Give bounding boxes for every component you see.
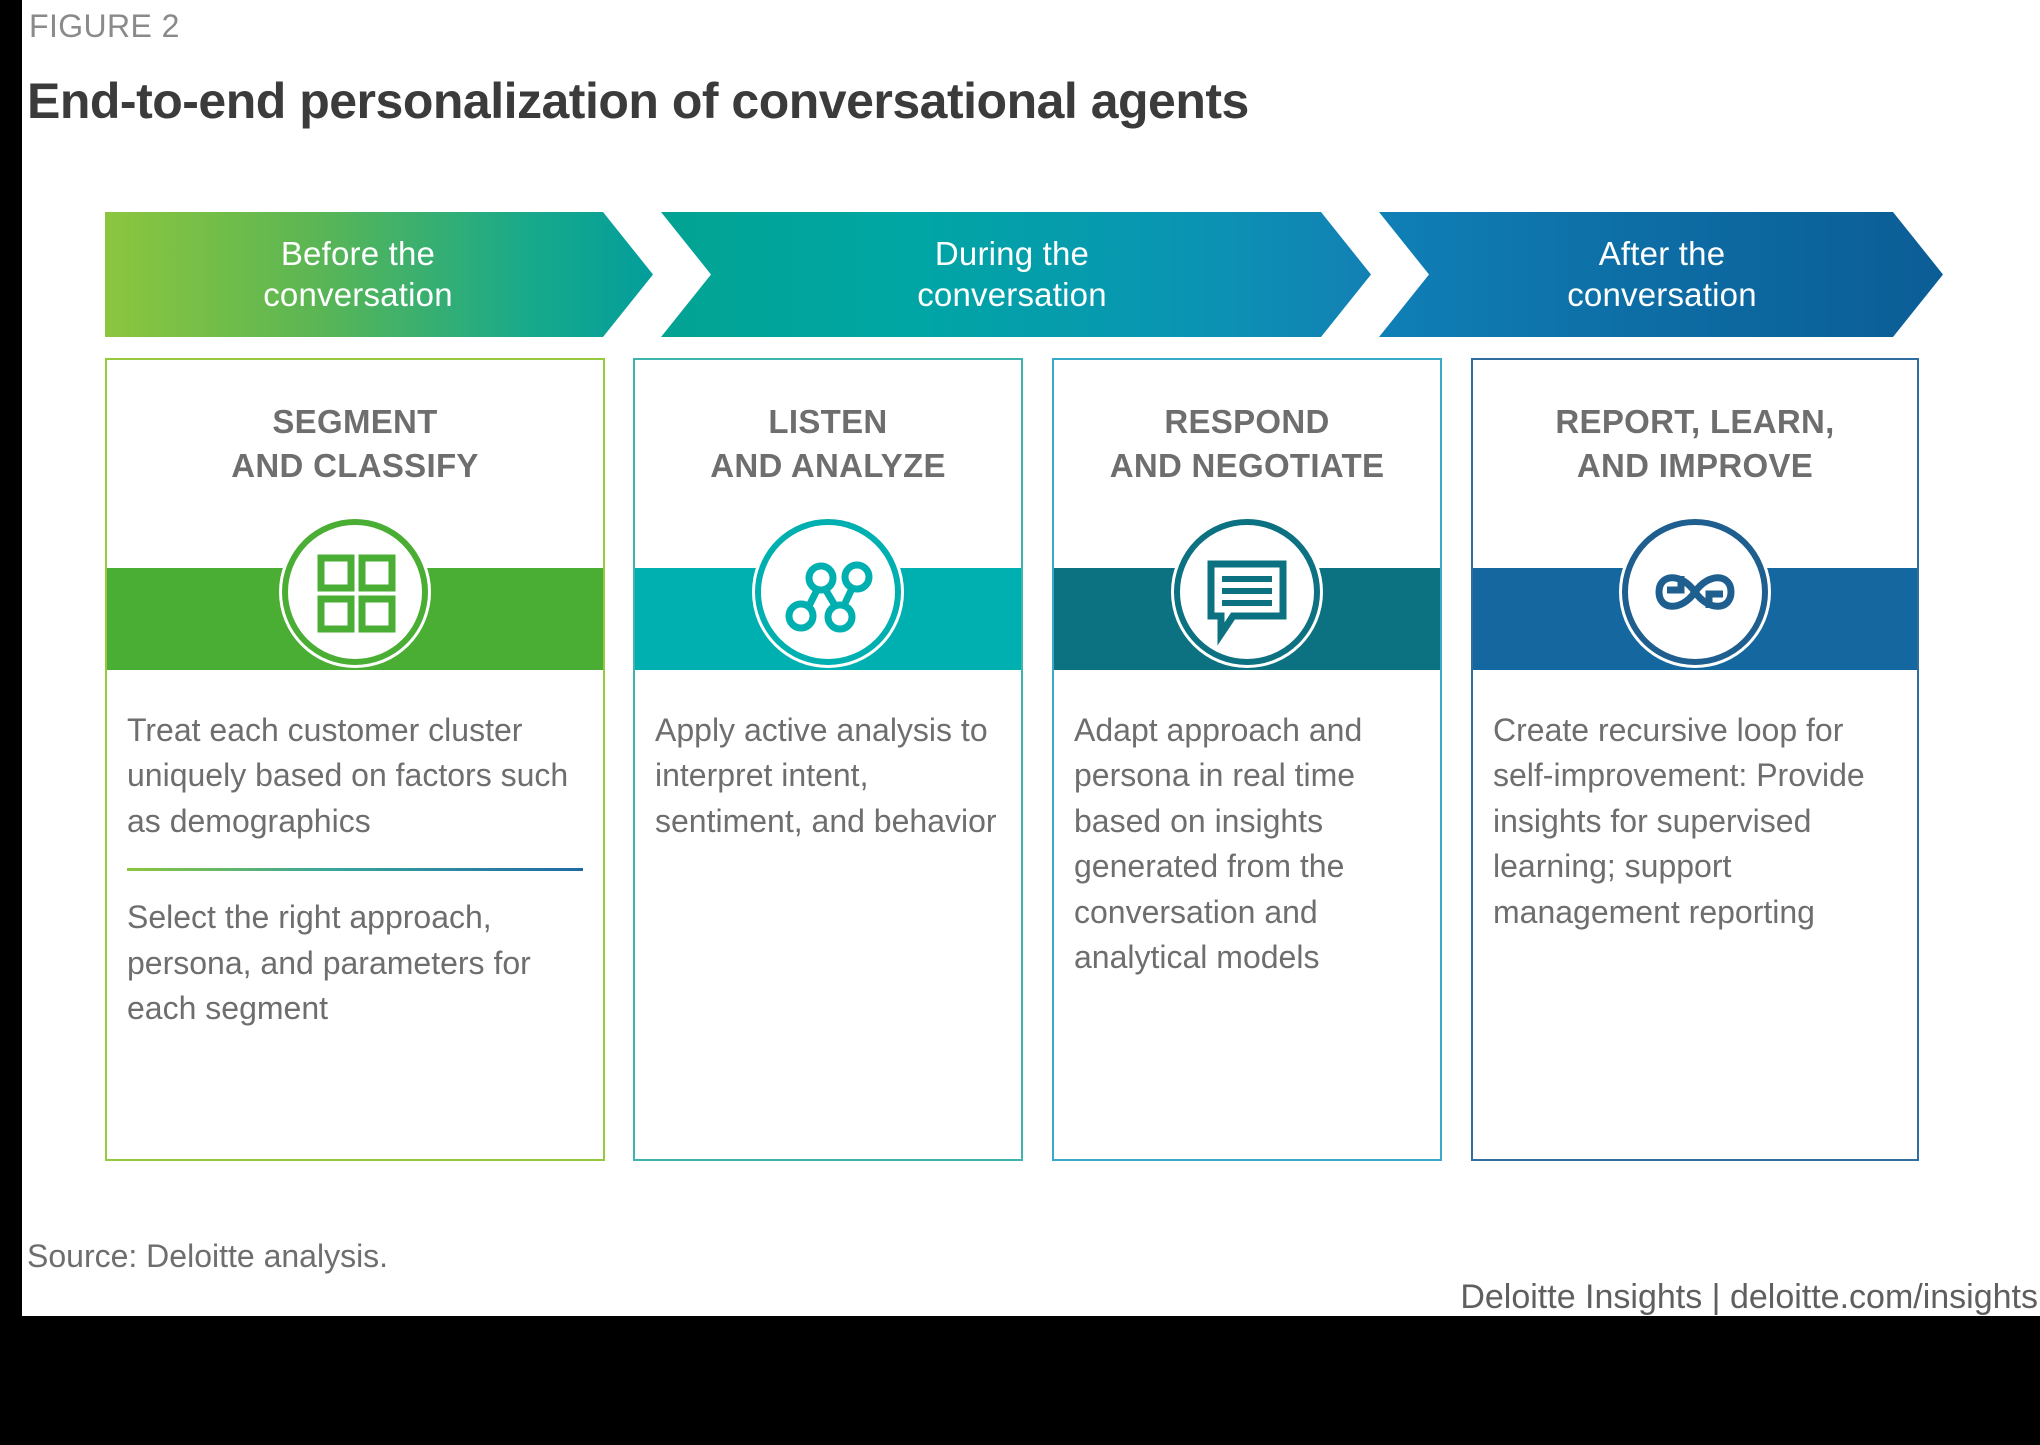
phase-banner: Before the conversation During the conve… bbox=[105, 212, 1943, 337]
stage-card-row: SEGMENT AND CLASSIFY Treat each customer… bbox=[105, 358, 1943, 1161]
stage-body-listen-and-analyze: Apply active analysis to interpret inten… bbox=[655, 708, 1005, 844]
stage-title-line2: AND NEGOTIATE bbox=[1110, 447, 1385, 484]
stage-body-report-learn-and-improve: Create recursive loop for self-improveme… bbox=[1493, 708, 1901, 935]
stage-card-segment-and-classify: SEGMENT AND CLASSIFY Treat each customer… bbox=[105, 358, 605, 1161]
phase-label-after: After the conversation bbox=[1567, 234, 1757, 315]
stage-title-line2: AND IMPROVE bbox=[1577, 447, 1813, 484]
stage-paragraph: Apply active analysis to interpret inten… bbox=[655, 708, 1005, 844]
stage-body-segment-and-classify: Treat each customer cluster uniquely bas… bbox=[127, 708, 587, 1032]
stage-paragraph: Treat each customer cluster uniquely bas… bbox=[127, 708, 587, 844]
stage-divider bbox=[127, 868, 583, 871]
grid-four-squares-icon bbox=[279, 516, 431, 668]
phase-label-during: During the conversation bbox=[917, 234, 1107, 315]
stage-paragraph: Create recursive loop for self-improveme… bbox=[1493, 708, 1901, 935]
phase-label-before: Before the conversation bbox=[263, 234, 453, 315]
stage-title-line2: AND ANALYZE bbox=[710, 447, 946, 484]
phase-chevron-before: Before the conversation bbox=[105, 212, 653, 337]
phase-label-before-line1: Before the bbox=[281, 235, 435, 272]
phase-chevron-during: During the conversation bbox=[661, 212, 1371, 337]
stage-card-respond-and-negotiate: RESPOND AND NEGOTIATE Adapt approach and… bbox=[1052, 358, 1442, 1161]
source-note: Source: Deloitte analysis. bbox=[27, 1238, 388, 1275]
stage-title-line2: AND CLASSIFY bbox=[231, 447, 478, 484]
stage-paragraph: Select the right approach, persona, and … bbox=[127, 895, 587, 1031]
phase-label-during-line2: conversation bbox=[917, 276, 1107, 313]
figure-root: FIGURE 2 End-to-end personalization of c… bbox=[0, 0, 2040, 1445]
stage-body-respond-and-negotiate: Adapt approach and persona in real time … bbox=[1074, 708, 1424, 981]
speech-bubble-icon bbox=[1171, 516, 1323, 668]
phase-label-after-line2: conversation bbox=[1567, 276, 1757, 313]
figure-canvas: FIGURE 2 End-to-end personalization of c… bbox=[22, 0, 2040, 1316]
stage-title-listen-and-analyze: LISTEN AND ANALYZE bbox=[635, 400, 1021, 487]
page-title: End-to-end personalization of conversati… bbox=[27, 72, 1249, 130]
phase-label-after-line1: After the bbox=[1599, 235, 1726, 272]
phase-label-before-line2: conversation bbox=[263, 276, 453, 313]
node-network-icon bbox=[752, 516, 904, 668]
stage-title-segment-and-classify: SEGMENT AND CLASSIFY bbox=[107, 400, 603, 487]
brand-footer: Deloitte Insights | deloitte.com/insight… bbox=[1460, 1278, 2038, 1317]
phase-label-during-line1: During the bbox=[935, 235, 1089, 272]
stage-title-line1: REPORT, LEARN, bbox=[1555, 403, 1834, 440]
phase-chevron-after: After the conversation bbox=[1379, 212, 1943, 337]
stage-card-listen-and-analyze: LISTEN AND ANALYZE bbox=[633, 358, 1023, 1161]
stage-title-respond-and-negotiate: RESPOND AND NEGOTIATE bbox=[1054, 400, 1440, 487]
stage-title-line1: LISTEN bbox=[768, 403, 887, 440]
stage-paragraph: Adapt approach and persona in real time … bbox=[1074, 708, 1424, 981]
recursive-loop-icon bbox=[1619, 516, 1771, 668]
stage-title-report-learn-and-improve: REPORT, LEARN, AND IMPROVE bbox=[1473, 400, 1917, 487]
stage-title-line1: RESPOND bbox=[1164, 403, 1329, 440]
stage-title-line1: SEGMENT bbox=[272, 403, 437, 440]
stage-card-report-learn-and-improve: REPORT, LEARN, AND IMPROVE Create recurs… bbox=[1471, 358, 1919, 1161]
figure-label: FIGURE 2 bbox=[29, 8, 180, 45]
